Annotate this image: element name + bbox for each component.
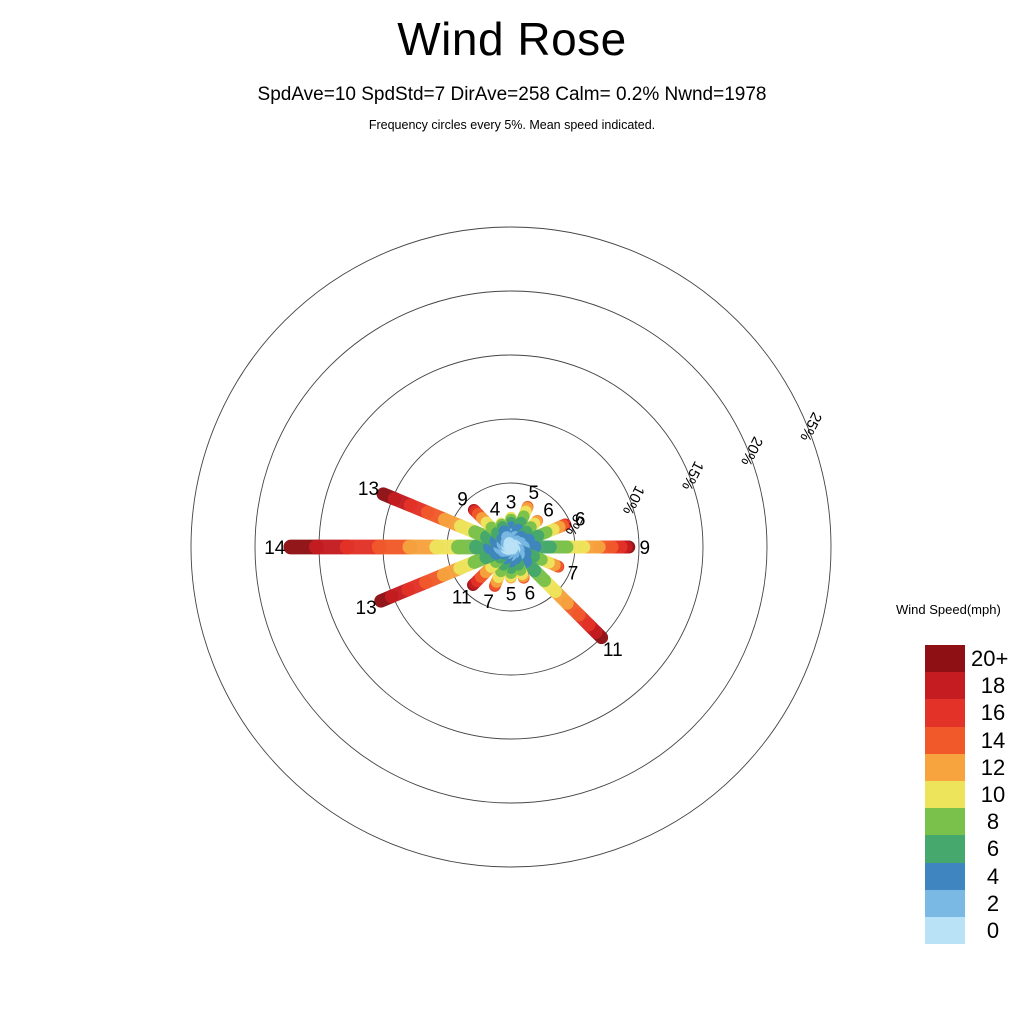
petal-mean-speed-label: 6 — [543, 500, 554, 521]
radial-tick-label: 15% — [678, 458, 707, 492]
legend-label: 10 — [971, 781, 1015, 808]
petal-mean-speed-label: 11 — [603, 640, 623, 661]
legend-label: 18 — [971, 672, 1015, 699]
petal-mean-speed-label: 7 — [568, 564, 579, 585]
legend-title: Wind Speed(mph) — [896, 602, 1001, 617]
radial-tick-label: 25% — [796, 409, 825, 443]
legend-row[interactable]: 16 — [925, 699, 965, 726]
legend-label: 20+ — [971, 645, 1024, 672]
legend-swatch — [925, 672, 965, 699]
legend-label: 6 — [971, 835, 1015, 862]
petal-mean-speed-label: 11 — [452, 587, 472, 608]
legend-swatch — [925, 754, 965, 781]
legend-row[interactable]: 4 — [925, 863, 965, 890]
legend-swatch — [925, 699, 965, 726]
radial-tick-text: 10% — [619, 483, 648, 517]
legend-row[interactable]: 0 — [925, 917, 965, 944]
petal-mean-speed-label: 6 — [575, 509, 586, 530]
legend-swatch — [925, 835, 965, 862]
legend-row[interactable]: 8 — [925, 808, 965, 835]
legend-label: 14 — [971, 727, 1015, 754]
legend-label: 12 — [971, 754, 1015, 781]
radial-tick-labels: 5%10%15%20%25% — [562, 409, 825, 538]
petal-mean-speed-label: 9 — [640, 538, 651, 559]
radial-tick-text: 20% — [737, 434, 766, 468]
radial-tick-text: 25% — [796, 409, 825, 443]
legend-label: 4 — [971, 863, 1015, 890]
legend-label: 8 — [971, 808, 1015, 835]
legend-label: 16 — [971, 699, 1015, 726]
petal-mean-speed-label: 5 — [529, 483, 540, 504]
legend-row[interactable]: 6 — [925, 835, 965, 862]
petal-mean-speed-label: 13 — [358, 479, 379, 500]
wind-rose-figure: Wind Rose SpdAve=10 SpdStd=7 DirAve=258 … — [0, 0, 1024, 1024]
legend-row[interactable]: 12 — [925, 754, 965, 781]
radial-tick-text: 15% — [678, 458, 707, 492]
petal-mean-speed-label: 5 — [506, 585, 517, 606]
wind-speed-legend: 20+181614121086420 — [925, 645, 965, 944]
legend-label: 0 — [971, 917, 1015, 944]
legend-swatch — [925, 645, 965, 672]
petal-mean-speed-label: 9 — [457, 490, 468, 511]
legend-row[interactable]: 18 — [925, 672, 965, 699]
radial-tick-label: 10% — [619, 483, 648, 517]
legend-swatch — [925, 781, 965, 808]
petal-mean-speed-label: 6 — [525, 584, 536, 605]
legend-row[interactable]: 20+ — [925, 645, 965, 672]
calm-center-marker — [506, 542, 516, 552]
legend-swatch — [925, 890, 965, 917]
legend-row[interactable]: 2 — [925, 890, 965, 917]
legend-swatch — [925, 727, 965, 754]
wind-rose-plot: 5%10%15%20%25% 356697116571113141394 — [0, 0, 1024, 1024]
legend-label: 2 — [971, 890, 1015, 917]
legend-swatch — [925, 917, 965, 944]
petal-mean-speed-label: 3 — [506, 493, 517, 514]
radial-tick-label: 20% — [737, 434, 766, 468]
legend-swatch — [925, 863, 965, 890]
petal-mean-speed-label: 4 — [490, 500, 501, 521]
legend-row[interactable]: 14 — [925, 727, 965, 754]
legend-row[interactable]: 10 — [925, 781, 965, 808]
petal-mean-speed-label: 13 — [356, 598, 377, 619]
petal-mean-speed-label: 14 — [264, 538, 286, 559]
legend-swatch — [925, 808, 965, 835]
petal-mean-speed-label: 7 — [483, 592, 494, 613]
